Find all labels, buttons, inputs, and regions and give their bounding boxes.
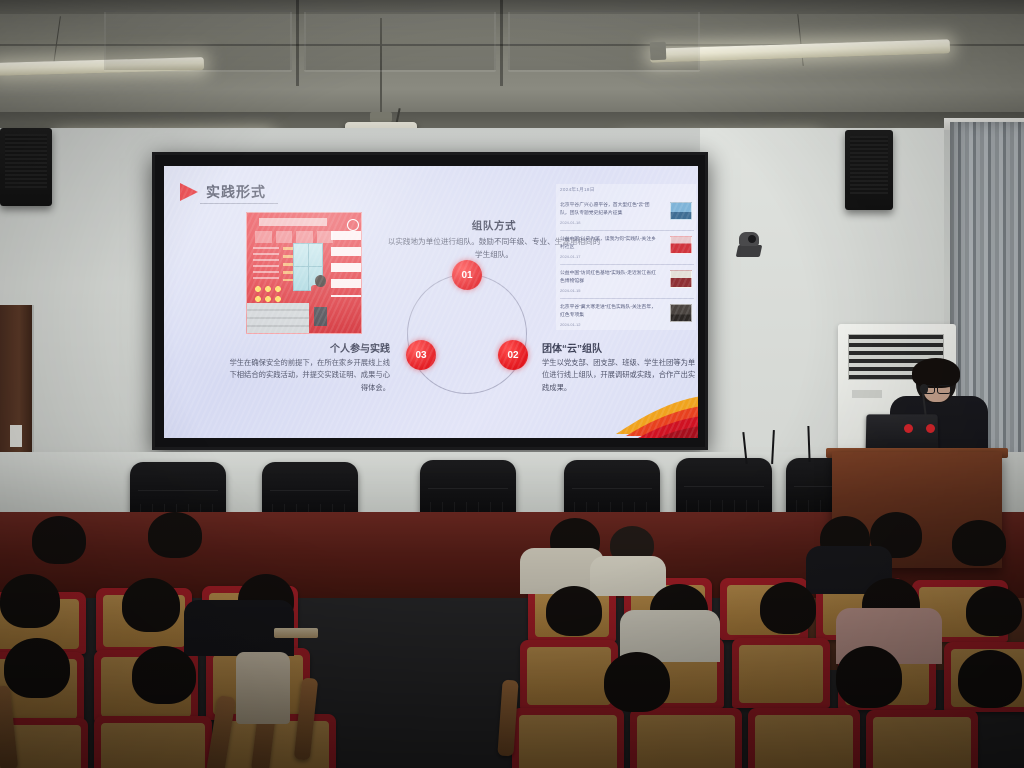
apron-seam: [296, 0, 299, 86]
speaker-grille: [5, 134, 47, 190]
apron-panel: [508, 10, 700, 72]
poster-text-column-left: [253, 247, 279, 281]
audience-head: [604, 652, 670, 712]
news-item-title: 北京平谷广兴心愿平谷，首大型红色“云”团队，团队专题党史纪录片征集: [560, 202, 656, 218]
poster-stairs: [247, 303, 309, 333]
audience-shoulders: [590, 556, 666, 596]
audience-head: [958, 650, 1022, 708]
news-item: 公益中国“以史为鉴，读我为何”实践队-关注乡村社区 2024-01-17: [560, 232, 694, 265]
news-item-thumbnail: [670, 304, 692, 322]
slide-news-panel: 2024年1月18日 北京平谷广兴心愿平谷，首大型红色“云”团队，团队专题党史纪…: [556, 184, 696, 330]
diagram-node-02: 02: [498, 340, 528, 370]
projector-mount: [370, 112, 392, 122]
seat-writing-tablet: [274, 628, 318, 638]
presenter-hair: [912, 358, 960, 388]
poster-vertical-text-2: [347, 231, 362, 297]
news-item: 北京平谷广兴心愿平谷，首大型红色“云”团队，团队专题党史纪录片征集 2024-0…: [560, 198, 694, 231]
slide-right-heading: 团体“云”组队: [542, 340, 698, 355]
audience-head: [132, 646, 196, 704]
title-underline: [200, 203, 278, 204]
news-item-thumbnail: [670, 202, 692, 220]
news-item-title: 公益中国“以史为鉴，读我为何”实践队-关注乡村社区: [560, 236, 656, 252]
door-sign: [10, 425, 22, 447]
news-item-date: 2024-01-12: [560, 322, 580, 327]
camera-mount-arm: [736, 245, 763, 257]
audience-head: [952, 520, 1006, 566]
audience-head: [0, 574, 60, 628]
apron-seam: [500, 0, 503, 86]
audience-seat: [748, 708, 860, 768]
slide-left-body: 学生在确保安全的前提下，在所在家乡开展线上线下相结合的实践活动，并提交实践证明、…: [226, 357, 390, 394]
projection-screen: 实践形式 组队方式: [152, 152, 708, 450]
audience-head: [546, 586, 602, 636]
news-item-title: 北京平谷“冀大寒走进”红色实践队-关注百年，红色专项集: [560, 304, 656, 320]
news-item-date: 2024-01-18: [560, 220, 580, 225]
news-item-thumbnail: [670, 236, 692, 254]
ptz-camera: [736, 232, 762, 258]
audience-seat: [94, 716, 212, 768]
poster-person-vest: [311, 285, 330, 307]
poster-vertical-text-1: [331, 231, 347, 297]
audience-head: [966, 586, 1022, 636]
news-item: 公益中国“访问红色基地”实践队-走近浙江省红色博物馆群 2024-01-15: [560, 266, 694, 299]
slide-left-heading: 个人参与实践: [238, 340, 390, 355]
diagram-node-03: 03: [406, 340, 436, 370]
presentation-slide: 实践形式 组队方式: [164, 166, 698, 438]
camera-lens: [748, 235, 756, 243]
news-item-title: 公益中国“访问红色基地”实践队-走近浙江省红色博物馆群: [560, 270, 656, 286]
news-item: 北京平谷“冀大寒走进”红色实践队-关注百年，红色专项集 2024-01-12: [560, 300, 694, 333]
microphone-indicator: [926, 424, 935, 433]
poster-seal-icon: [347, 219, 359, 231]
apron-panel: [104, 10, 292, 72]
audience-head: [4, 638, 70, 698]
ac-control-panel[interactable]: [852, 390, 882, 398]
audience-seat: [866, 710, 978, 768]
slide-title-row: 实践形式: [180, 182, 266, 202]
audience-area: [0, 500, 1024, 768]
news-item-date: 2024-01-17: [560, 254, 580, 259]
microphone-head: [920, 384, 928, 394]
red-arrow-icon: [180, 183, 198, 201]
poster-banner: [259, 218, 327, 226]
audience-head: [836, 646, 902, 708]
news-item-thumbnail: [670, 270, 692, 288]
camera-head: [739, 232, 759, 246]
audience-seat: [732, 638, 830, 708]
news-item-date: 2024-01-15: [560, 288, 580, 293]
slide-poster-photo: [246, 212, 362, 334]
audience-seat: [512, 708, 624, 768]
chinese-roof-eave-icon: [596, 388, 698, 438]
wall-speaker-right: [845, 130, 893, 210]
poster-person-legs: [314, 306, 327, 326]
poster-dot-grid: [253, 285, 295, 305]
diagram-node-01: 01: [452, 260, 482, 290]
audience-seat: [630, 708, 742, 768]
microphone-indicator: [904, 424, 913, 433]
circle-diagram-ring: [407, 274, 527, 394]
audience-head: [122, 578, 180, 632]
news-date-header: 2024年1月18日: [560, 187, 595, 193]
draped-jacket: [236, 652, 290, 724]
poster-person-head: [315, 275, 326, 287]
slide-title: 实践形式: [206, 182, 266, 202]
audience-head: [32, 516, 86, 564]
audience-head: [148, 512, 202, 558]
audience-head: [760, 582, 816, 634]
speaker-grille: [850, 136, 888, 194]
poster-info-boxes: [255, 231, 333, 243]
audience-seat: [520, 640, 618, 710]
apron-panel: [304, 10, 496, 72]
wall-speaker-left: [0, 128, 52, 206]
lecture-hall-photo: 实践形式 组队方式: [0, 0, 1024, 768]
